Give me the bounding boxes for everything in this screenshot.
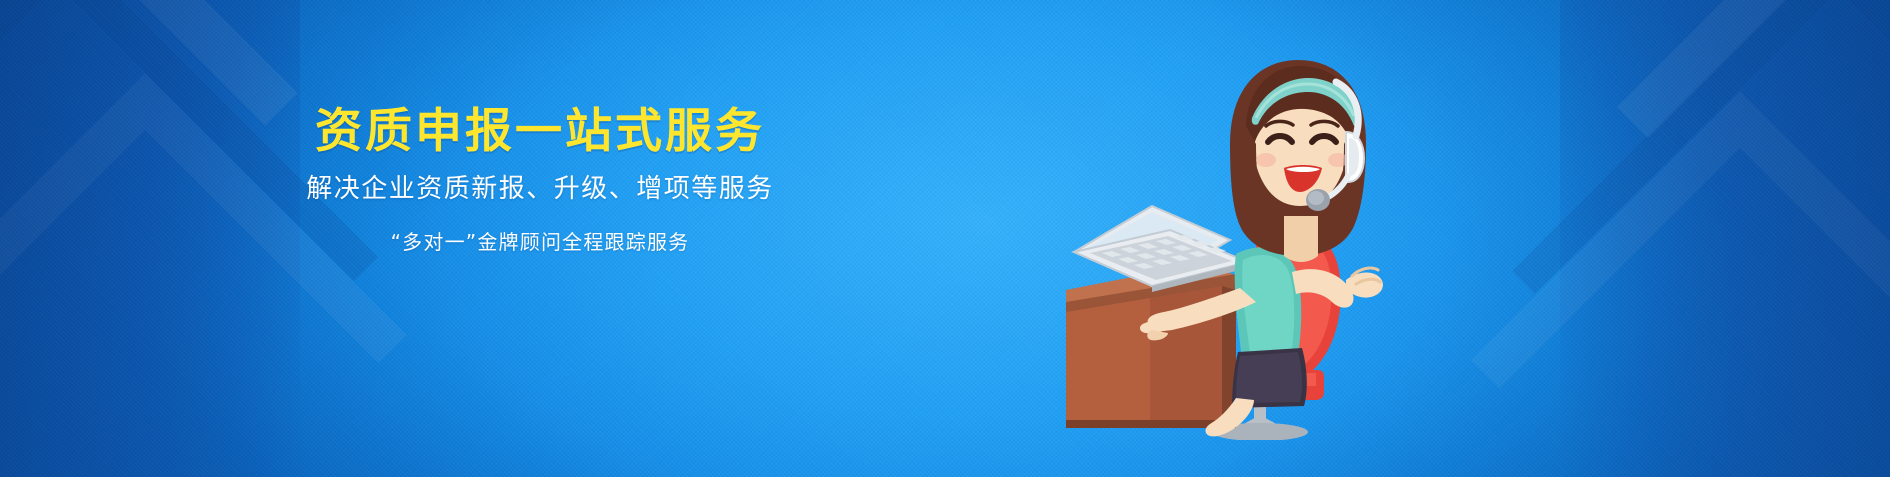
promo-banner: 资质申报一站式服务 解决企业资质新报、升级、增项等服务 “多对一”金牌顾问全程跟…	[0, 0, 1890, 477]
banner-copy-block: 资质申报一站式服务 解决企业资质新报、升级、增项等服务 “多对一”金牌顾问全程跟…	[0, 105, 1080, 255]
desk-graphic	[1066, 262, 1236, 428]
banner-headline: 资质申报一站式服务	[0, 105, 1080, 159]
banner-tagline: “多对一”金牌顾问全程跟踪服务	[0, 229, 1080, 255]
customer-service-agent-illustration	[1060, 40, 1420, 440]
banner-subline: 解决企业资质新报、升级、增项等服务	[0, 173, 1080, 207]
agent-head	[1230, 60, 1366, 262]
